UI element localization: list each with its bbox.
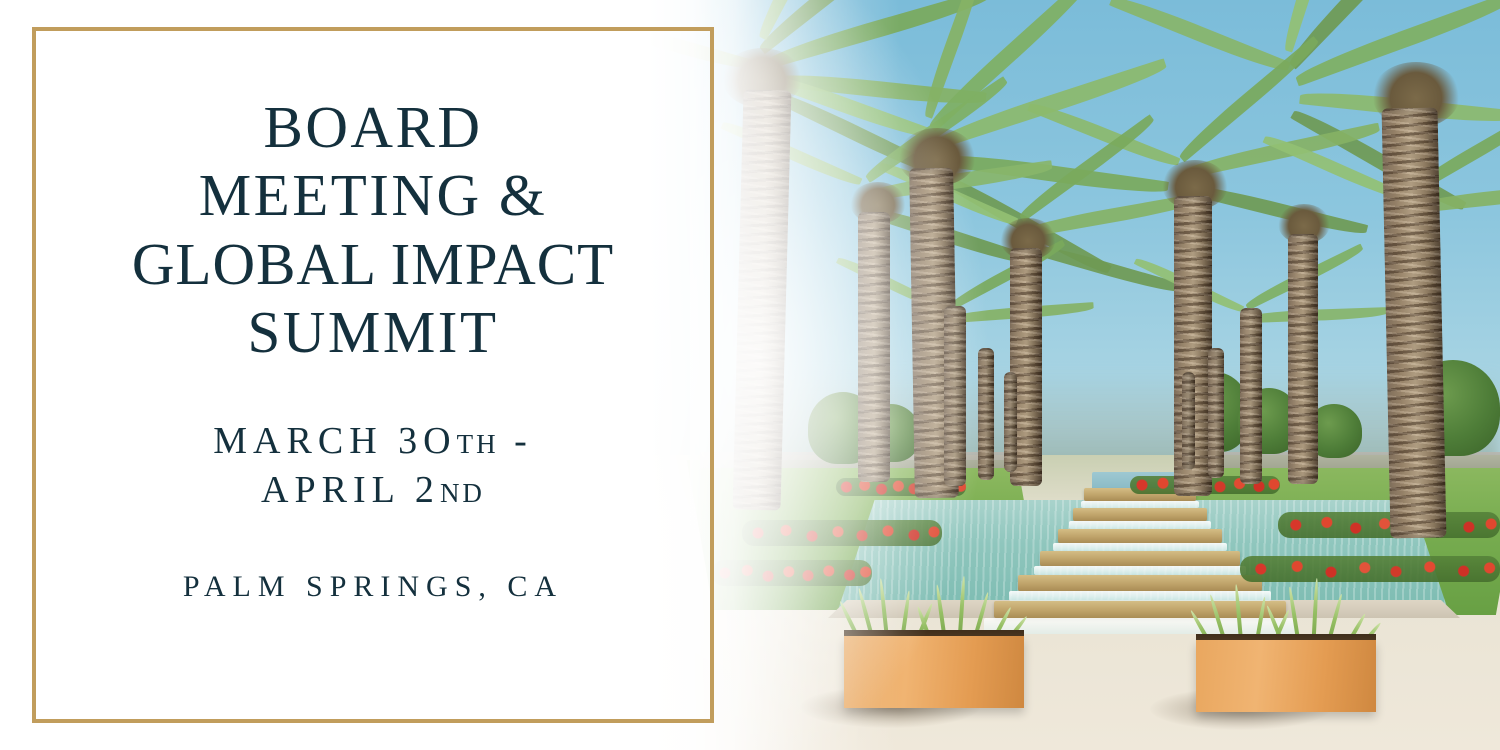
title-line-3: GLOBAL IMPACT xyxy=(132,230,614,298)
palm-frond xyxy=(1109,0,1291,76)
planter-box-right xyxy=(1196,640,1376,712)
date-range-dash: - xyxy=(499,420,533,462)
fountain-step xyxy=(1073,508,1207,521)
palm-trunk xyxy=(944,306,966,486)
fountain-water xyxy=(1034,566,1246,575)
event-dates: MARCH 3OTH - APRIL 2ND xyxy=(213,417,532,516)
palm-trunk xyxy=(1208,348,1224,478)
poster-text-block: BOARD MEETING & GLOBAL IMPACT SUMMIT MAR… xyxy=(32,27,714,723)
palm-trunk xyxy=(1004,372,1017,472)
palm-trunk xyxy=(1288,234,1318,484)
fountain-water xyxy=(1081,501,1199,508)
palm-trunk xyxy=(1182,372,1195,470)
flower-bed-right-2 xyxy=(1278,512,1500,538)
page-title: BOARD MEETING & GLOBAL IMPACT SUMMIT xyxy=(132,93,614,367)
fountain-water xyxy=(1069,521,1211,529)
title-line-2: MEETING & xyxy=(132,161,614,229)
title-line-4: SUMMIT xyxy=(132,298,614,366)
fountain-water xyxy=(1053,543,1227,551)
palm-trunk xyxy=(1240,308,1262,484)
palm-trunk xyxy=(978,348,994,480)
date-line-2: APRIL 2ND xyxy=(213,466,532,515)
date-end-ordinal: ND xyxy=(440,478,485,508)
date-start-main: MARCH 3O xyxy=(213,420,456,462)
fountain-step xyxy=(1058,529,1222,543)
date-line-1: MARCH 3OTH - xyxy=(213,417,532,466)
date-start-ordinal: TH xyxy=(457,429,499,459)
fountain-step xyxy=(1040,551,1240,566)
date-end-main: APRIL 2 xyxy=(261,469,440,511)
planter-right xyxy=(1196,610,1376,720)
event-poster: BOARD MEETING & GLOBAL IMPACT SUMMIT MAR… xyxy=(0,0,1500,750)
title-line-1: BOARD xyxy=(132,93,614,161)
event-location: PALM SPRINGS, CA xyxy=(183,570,563,604)
palm-trunk xyxy=(1382,107,1447,538)
